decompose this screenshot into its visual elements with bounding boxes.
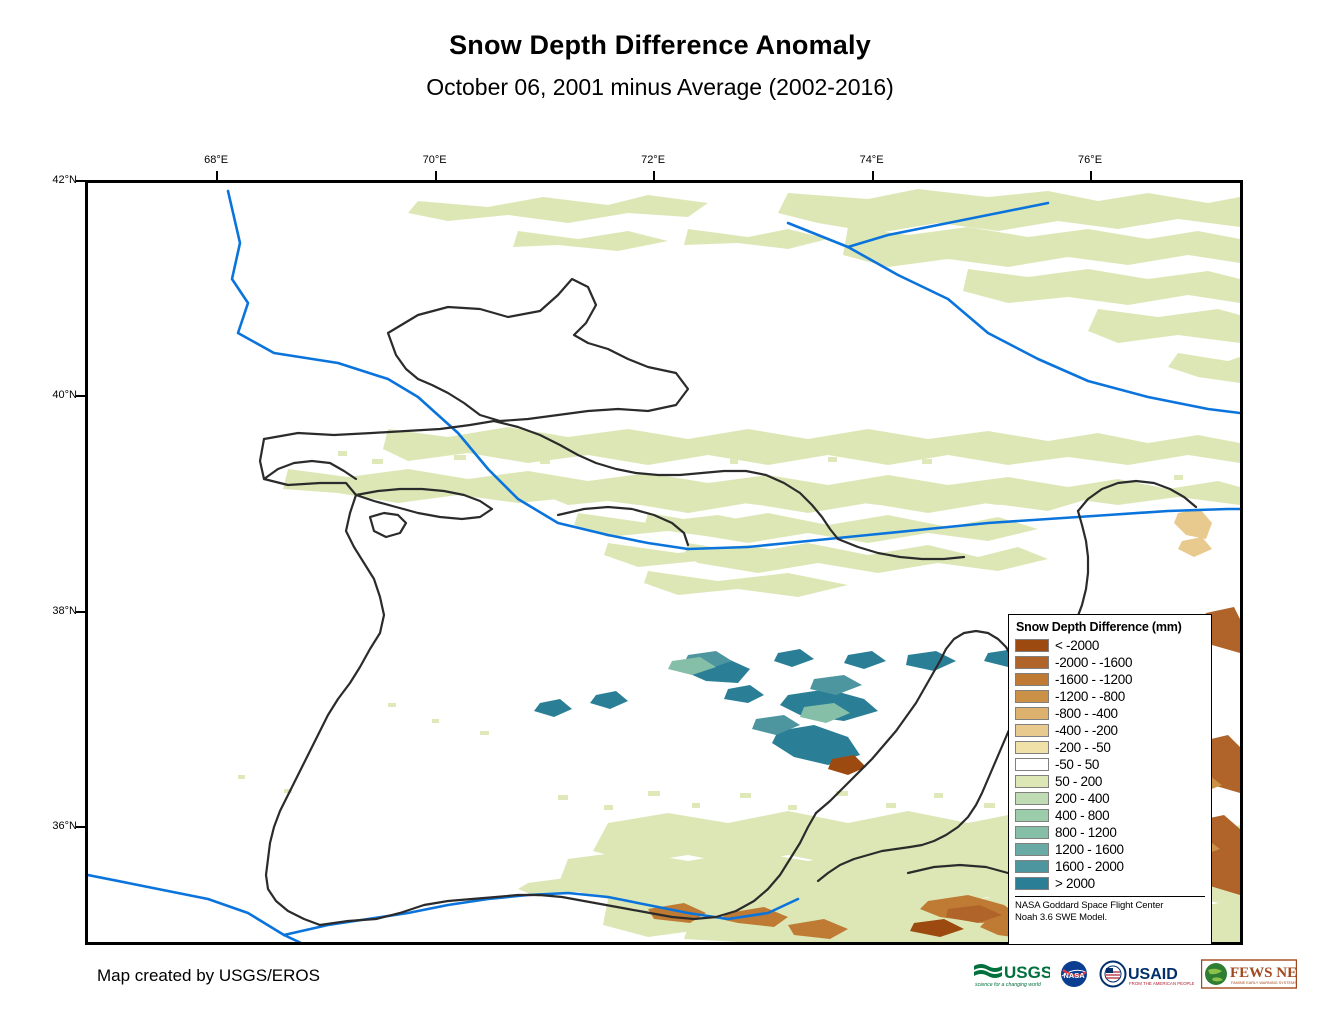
legend-class-list: < -2000-2000 - -1600-1600 - -1200-1200 -… [1015,637,1205,892]
lon-tick-mark [435,171,437,180]
legend-row: > 2000 [1015,875,1205,892]
legend-swatch [1015,639,1049,652]
legend-row: 1600 - 2000 [1015,858,1205,875]
legend-swatch [1015,758,1049,771]
lat-tick-label: 36°N [37,820,77,832]
legend-swatch [1015,775,1049,788]
legend-row: 800 - 1200 [1015,824,1205,841]
lat-tick-mark [76,826,85,828]
svg-text:FROM THE AMERICAN PEOPLE: FROM THE AMERICAN PEOPLE [1129,981,1194,986]
legend-note-line-2: Noah 3.6 SWE Model. [1015,912,1205,924]
lat-tick-mark [76,611,85,613]
legend-row: -1200 - -800 [1015,688,1205,705]
svg-text:FAMINE EARLY WARNING SYSTEMS N: FAMINE EARLY WARNING SYSTEMS NETWORK [1231,981,1297,985]
legend-swatch [1015,673,1049,686]
lon-tick-mark [653,171,655,180]
lat-tick-label: 38°N [37,605,77,617]
lon-tick-mark [872,171,874,180]
lat-tick-mark [76,395,85,397]
legend-label: -50 - 50 [1055,758,1099,771]
legend-row: -1600 - -1200 [1015,671,1205,688]
legend-label: 200 - 400 [1055,792,1109,805]
usaid-logo: USAID FROM THE AMERICAN PEOPLE [1098,958,1194,990]
legend-label: 50 - 200 [1055,775,1102,788]
lon-tick-label: 70°E [423,154,447,166]
legend-row: -800 - -400 [1015,705,1205,722]
svg-text:NASA: NASA [1063,971,1085,980]
legend-label: -2000 - -1600 [1055,656,1132,669]
legend-swatch [1015,741,1049,754]
legend-label: < -2000 [1055,639,1099,652]
lon-tick-mark [216,171,218,180]
legend-swatch [1015,809,1049,822]
lon-tick-label: 76°E [1078,154,1102,166]
map-legend: Snow Depth Difference (mm) < -2000-2000 … [1008,614,1212,945]
lon-tick-mark [1090,171,1092,180]
legend-row: 50 - 200 [1015,773,1205,790]
usgs-logo: USGS science for a changing world [972,959,1050,989]
legend-swatch [1015,707,1049,720]
legend-swatch [1015,656,1049,669]
fewsnet-logo: FEWS NET FAMINE EARLY WARNING SYSTEMS NE… [1201,958,1297,990]
legend-swatch [1015,860,1049,873]
agency-logos: USGS science for a changing world NASA U… [972,958,1297,990]
legend-swatch [1015,877,1049,890]
page-subtitle: October 06, 2001 minus Average (2002-201… [0,74,1320,101]
legend-note-line-1: NASA Goddard Space Flight Center [1015,900,1205,912]
legend-attribution: NASA Goddard Space Flight Center Noah 3.… [1015,896,1205,923]
lon-tick-label: 68°E [204,154,228,166]
legend-label: 1600 - 2000 [1055,860,1124,873]
legend-swatch [1015,690,1049,703]
legend-row: -2000 - -1600 [1015,654,1205,671]
lon-tick-label: 74°E [860,154,884,166]
legend-label: -200 - -50 [1055,741,1111,754]
legend-label: 400 - 800 [1055,809,1109,822]
legend-row: < -2000 [1015,637,1205,654]
lon-tick-label: 72°E [641,154,665,166]
legend-row: 1200 - 1600 [1015,841,1205,858]
legend-row: 400 - 800 [1015,807,1205,824]
nasa-logo: NASA [1057,958,1091,990]
lat-tick-label: 40°N [37,389,77,401]
svg-text:science for a changing world: science for a changing world [975,982,1042,988]
legend-row: -200 - -50 [1015,739,1205,756]
svg-text:FEWS NET: FEWS NET [1230,965,1297,981]
lat-tick-label: 42°N [37,174,77,186]
legend-label: > 2000 [1055,877,1095,890]
legend-row: -50 - 50 [1015,756,1205,773]
legend-title: Snow Depth Difference (mm) [1016,620,1205,634]
legend-swatch [1015,826,1049,839]
legend-label: -1600 - -1200 [1055,673,1132,686]
legend-label: 800 - 1200 [1055,826,1117,839]
legend-label: -1200 - -800 [1055,690,1125,703]
legend-label: -800 - -400 [1055,707,1118,720]
legend-swatch [1015,843,1049,856]
legend-row: 200 - 400 [1015,790,1205,807]
legend-label: 1200 - 1600 [1055,843,1124,856]
lat-tick-mark [76,180,85,182]
legend-swatch [1015,724,1049,737]
page-title: Snow Depth Difference Anomaly [0,30,1320,61]
legend-label: -400 - -200 [1055,724,1118,737]
map-credit: Map created by USGS/EROS [97,966,320,986]
legend-swatch [1015,792,1049,805]
svg-text:USGS: USGS [1004,963,1050,982]
legend-row: -400 - -200 [1015,722,1205,739]
